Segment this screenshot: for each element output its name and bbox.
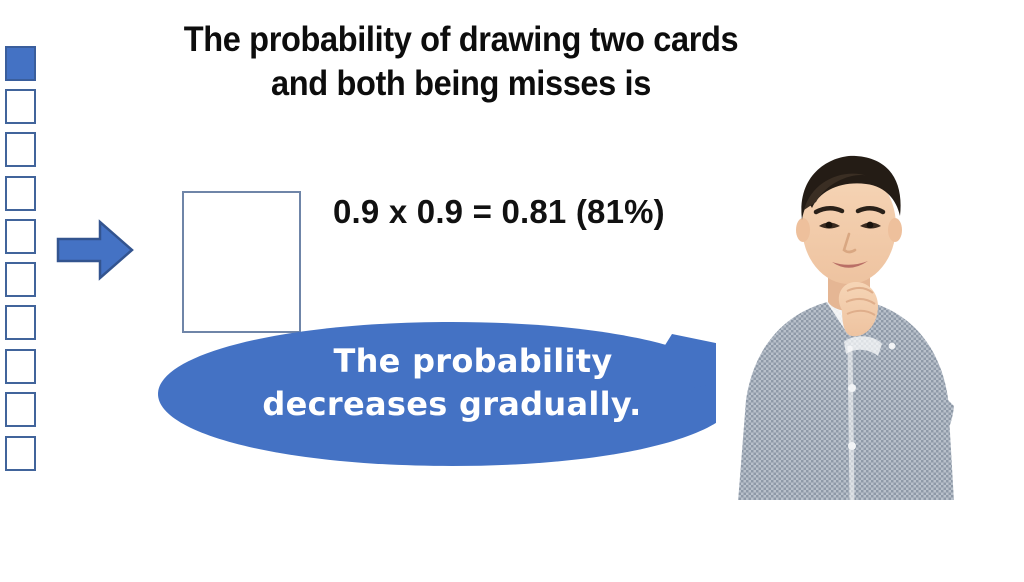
bubble-text: The probability decreases gradually. [188,340,716,425]
bubble-line-1: The probability [188,340,716,383]
presenter-photo [716,150,974,500]
card-square-7 [5,305,36,340]
card-square-3 [5,132,36,167]
bubble-line-2: decreases gradually. [188,383,716,426]
right-arrow-icon [56,219,134,281]
shirt-button-collar [889,343,896,350]
card-square-10 [5,436,36,471]
equation-text: 0.9 x 0.9 = 0.81 (81%) [333,193,665,231]
ear-left [796,218,810,242]
card-square-1 [5,46,36,81]
card-square-4 [5,176,36,211]
drawn-card-outline [182,191,301,333]
title-line-1: The probability of drawing two cards [122,18,801,62]
title-line-2: and both being misses is [122,62,801,106]
shirt-button-1 [848,384,856,392]
card-square-5 [5,219,36,254]
card-square-9 [5,392,36,427]
speech-bubble: The probability decreases gradually. [152,318,742,470]
ear-right [888,218,902,242]
shirt-placket [850,346,852,500]
card-square-2 [5,89,36,124]
slide-canvas: The probability of drawing two cards and… [0,0,1024,582]
shirt-button-2 [848,442,856,450]
card-square-8 [5,349,36,384]
page-title: The probability of drawing two cards and… [122,18,801,107]
card-column [4,46,44,482]
card-square-6 [5,262,36,297]
